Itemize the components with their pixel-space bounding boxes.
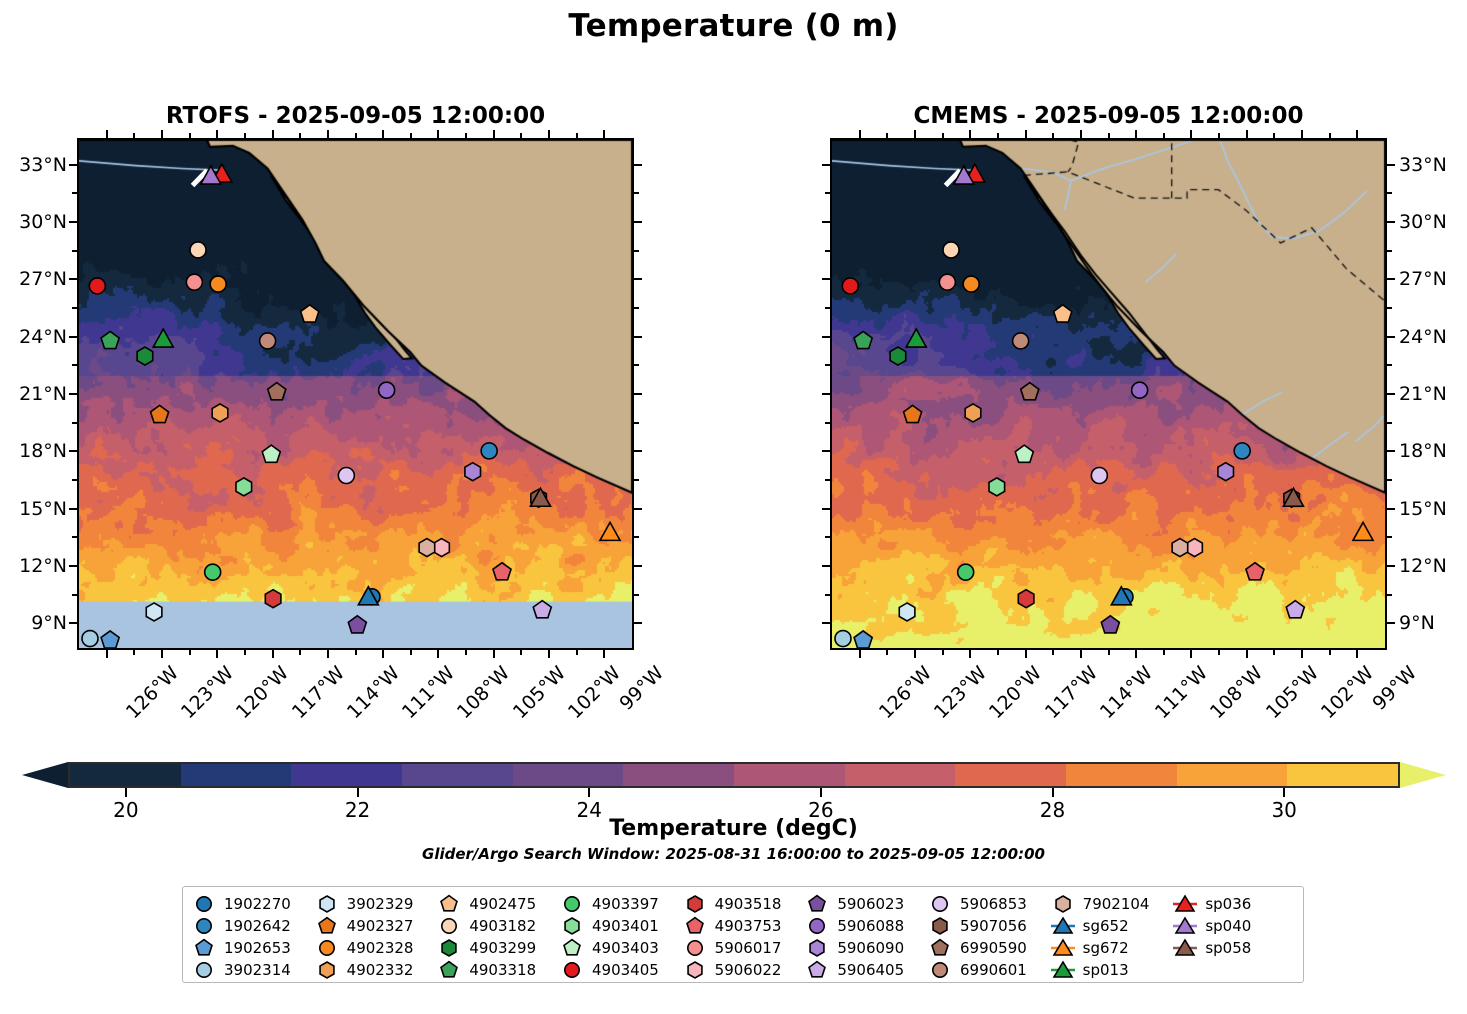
platform-marker[interactable]	[236, 478, 252, 496]
legend-marker-icon	[927, 916, 953, 935]
colorbar-tick	[1052, 788, 1054, 797]
lon-tick-minor	[1052, 133, 1054, 138]
lat-tick	[634, 336, 642, 338]
legend-item[interactable]: sg672	[1050, 937, 1173, 958]
lon-tick-label: 108°W	[1206, 662, 1267, 723]
lon-tick	[1080, 650, 1082, 658]
legend-marker-icon	[927, 894, 953, 913]
lon-tick	[1246, 130, 1248, 138]
lat-tick-minor	[72, 594, 77, 596]
legend-item[interactable]: 4902328	[314, 937, 437, 958]
lon-tick-label: 126°W	[874, 662, 935, 723]
lat-tick-minor	[825, 192, 830, 194]
lat-tick-label: 33°N	[0, 154, 67, 176]
lon-tick-minor	[299, 650, 301, 655]
lon-tick	[859, 130, 861, 138]
lon-tick-minor	[886, 133, 888, 138]
lon-tick	[1301, 130, 1303, 138]
platform-marker[interactable]	[146, 603, 162, 621]
platform-marker[interactable]	[481, 443, 497, 459]
lat-tick-label: 18°N	[1399, 440, 1467, 462]
lat-tick-minor	[1387, 364, 1392, 366]
legend-item[interactable]: 4903299	[436, 937, 559, 958]
legend-item[interactable]: sg652	[1050, 915, 1173, 936]
platform-marker[interactable]	[260, 333, 276, 349]
lat-tick	[822, 508, 830, 510]
platform-legend[interactable]: 1902270190264219026533902314390232949023…	[182, 886, 1304, 983]
panel-title-rtofs: RTOFS - 2025-09-05 12:00:00	[77, 103, 634, 129]
lon-tick-minor	[244, 133, 246, 138]
colorbar-tick	[820, 788, 822, 797]
lon-tick-minor	[1163, 133, 1165, 138]
legend-marker-icon	[1050, 894, 1076, 913]
lat-tick-label: 12°N	[1399, 555, 1467, 577]
lon-tick-minor	[1108, 133, 1110, 138]
lat-tick-minor	[634, 536, 639, 538]
platform-marker[interactable]	[493, 563, 511, 580]
lat-tick-label: 12°N	[0, 555, 67, 577]
lon-tick-minor	[355, 650, 357, 655]
legend-item[interactable]: sp036	[1172, 893, 1295, 914]
legend-item-label: sp058	[1205, 939, 1251, 957]
platform-marker[interactable]	[965, 404, 981, 422]
legend-item-label: 4902332	[347, 961, 414, 979]
lon-tick-minor	[189, 650, 191, 655]
legend-marker-icon	[1050, 938, 1076, 957]
platform-marker[interactable]	[958, 564, 974, 580]
lon-tick-minor	[1052, 650, 1054, 655]
legend-marker-icon	[191, 916, 217, 935]
figure-title: Temperature (0 m)	[0, 8, 1467, 44]
platform-marker[interactable]	[1015, 445, 1033, 462]
legend-item[interactable]: 6990590	[927, 937, 1050, 958]
colorbar-tick	[588, 788, 590, 797]
lon-tick-label: 99°W	[1369, 662, 1422, 715]
lat-tick	[1387, 565, 1395, 567]
legend-item-label: 4903518	[715, 895, 782, 913]
legend-marker-icon	[1172, 916, 1198, 935]
legend-item-label: 4903403	[592, 939, 659, 957]
platform-marker[interactable]	[1018, 590, 1034, 608]
lon-tick-minor	[410, 133, 412, 138]
legend-item[interactable]: 5906088	[804, 915, 927, 936]
lon-tick-minor	[355, 133, 357, 138]
platform-marker[interactable]	[600, 522, 620, 540]
platform-marker[interactable]	[434, 539, 450, 557]
lat-tick-minor	[634, 594, 639, 596]
platform-marker[interactable]	[212, 404, 228, 422]
legend-item[interactable]: sp013	[1050, 959, 1173, 980]
legend-marker-icon	[1050, 960, 1076, 979]
legend-marker-icon	[1172, 938, 1198, 957]
legend-item[interactable]: 1902270	[191, 893, 314, 914]
legend-item-label: sp013	[1083, 961, 1129, 979]
lat-tick	[634, 393, 642, 395]
legend-item-label: 3902314	[224, 961, 291, 979]
legend-marker-icon	[559, 916, 585, 935]
lat-tick-minor	[72, 307, 77, 309]
legend-item-label: 4903318	[469, 961, 536, 979]
lon-tick-label: 123°W	[177, 662, 238, 723]
lat-tick-minor	[1387, 536, 1392, 538]
legend-marker-icon	[436, 938, 462, 957]
lat-tick	[822, 565, 830, 567]
lon-tick-minor	[1273, 650, 1275, 655]
legend-marker-icon	[191, 894, 217, 913]
lon-tick	[1246, 650, 1248, 658]
lat-tick-minor	[1387, 422, 1392, 424]
lon-tick	[106, 130, 108, 138]
lon-tick	[161, 650, 163, 658]
platform-marker[interactable]	[854, 631, 872, 648]
legend-marker-icon	[436, 916, 462, 935]
legend-item[interactable]: 4903403	[559, 937, 682, 958]
lat-tick-label: 15°N	[0, 498, 67, 520]
legend-item[interactable]: 4903518	[682, 893, 805, 914]
legend-item[interactable]: 4902475	[436, 893, 559, 914]
legend-item-label: 4903397	[592, 895, 659, 913]
legend-marker-icon	[804, 938, 830, 957]
platform-marker[interactable]	[338, 468, 354, 484]
platform-marker[interactable]	[101, 331, 119, 348]
legend-marker-icon	[559, 938, 585, 957]
legend-item[interactable]: 4903401	[559, 915, 682, 936]
lat-tick	[634, 622, 642, 624]
legend-item[interactable]: 5906090	[804, 937, 927, 958]
legend-item[interactable]: 4902327	[314, 915, 437, 936]
platform-marker[interactable]	[137, 347, 153, 365]
lon-tick-label: 102°W	[564, 662, 625, 723]
lat-tick	[69, 450, 77, 452]
legend-item[interactable]: 4903182	[436, 915, 559, 936]
legend-item-label: sp036	[1205, 895, 1251, 913]
platform-marker[interactable]	[1021, 383, 1039, 400]
lat-tick-minor	[825, 536, 830, 538]
lat-tick-minor	[72, 536, 77, 538]
lon-tick-minor	[189, 133, 191, 138]
lon-tick-minor	[133, 133, 135, 138]
lon-tick-minor	[1218, 133, 1220, 138]
legend-marker-icon	[314, 938, 340, 957]
legend-marker-icon	[1050, 916, 1076, 935]
lon-tick	[216, 650, 218, 658]
platform-marker[interactable]	[899, 603, 915, 621]
platform-marker[interactable]	[1218, 463, 1234, 481]
legend-item-label: 5906088	[837, 917, 904, 935]
lat-tick-minor	[72, 479, 77, 481]
legend-item-label: 3902329	[347, 895, 414, 913]
platform-marker[interactable]	[101, 631, 119, 648]
lon-tick	[603, 650, 605, 658]
legend-item-label: 4903405	[592, 961, 659, 979]
lon-tick-minor	[1329, 650, 1331, 655]
legend-item[interactable]: 7902104	[1050, 893, 1173, 914]
legend-item[interactable]	[1172, 959, 1295, 980]
legend-marker-icon	[191, 960, 217, 979]
lon-tick	[603, 130, 605, 138]
lat-tick-label: 24°N	[1399, 326, 1467, 348]
platform-marker[interactable]	[1187, 539, 1203, 557]
platform-marker[interactable]	[268, 383, 286, 400]
lon-tick-minor	[886, 650, 888, 655]
lat-tick-minor	[825, 594, 830, 596]
platform-marker[interactable]	[842, 278, 858, 294]
lat-tick	[634, 450, 642, 452]
lat-tick-label: 30°N	[0, 211, 67, 233]
colorbar-max-extend	[1400, 762, 1446, 788]
map-panel-cmems[interactable]	[830, 138, 1387, 650]
lat-tick-label: 21°N	[0, 383, 67, 405]
lat-tick	[1387, 221, 1395, 223]
lon-tick	[493, 130, 495, 138]
lon-tick-minor	[520, 650, 522, 655]
platform-marker[interactable]	[1246, 563, 1264, 580]
legend-item[interactable]: sp040	[1172, 915, 1295, 936]
lat-tick-label: 9°N	[1399, 612, 1467, 634]
lon-tick-label: 105°W	[1262, 662, 1323, 723]
legend-item-label: 4903182	[469, 917, 536, 935]
legend-item[interactable]: 4902332	[314, 959, 437, 980]
legend-item-label: 5906090	[837, 939, 904, 957]
platform-marker[interactable]	[265, 590, 281, 608]
lat-tick-minor	[634, 479, 639, 481]
lat-tick-minor	[634, 422, 639, 424]
map-panel-rtofs[interactable]	[77, 138, 634, 650]
colorbar-tick	[1283, 788, 1285, 797]
lon-tick-minor	[942, 133, 944, 138]
lon-tick	[437, 130, 439, 138]
lat-tick-label: 27°N	[1399, 268, 1467, 290]
lat-tick-label: 15°N	[1399, 498, 1467, 520]
lat-tick	[822, 278, 830, 280]
legend-marker-icon	[559, 894, 585, 913]
legend-item-label: sg652	[1083, 917, 1129, 935]
lat-tick-minor	[1387, 192, 1392, 194]
platform-marker[interactable]	[210, 276, 226, 292]
lon-tick	[437, 650, 439, 658]
lon-tick	[161, 130, 163, 138]
legend-item[interactable]: 5906853	[927, 893, 1050, 914]
lat-tick-minor	[825, 364, 830, 366]
lat-tick	[822, 221, 830, 223]
platform-marker[interactable]	[1101, 616, 1119, 633]
lon-tick-label: 111°W	[1151, 662, 1212, 723]
lat-tick	[634, 508, 642, 510]
lon-tick-minor	[1273, 133, 1275, 138]
legend-marker-icon	[682, 894, 708, 913]
lat-tick-minor	[72, 250, 77, 252]
lat-tick-minor	[72, 192, 77, 194]
legend-marker-icon	[804, 916, 830, 935]
lon-tick-minor	[1108, 650, 1110, 655]
platform-marker[interactable]	[301, 305, 319, 322]
lat-tick-label: 9°N	[0, 612, 67, 634]
platform-marker[interactable]	[348, 616, 366, 633]
legend-item[interactable]: 1902653	[191, 937, 314, 958]
lat-tick	[1387, 164, 1395, 166]
lat-tick-minor	[825, 479, 830, 481]
legend-item-label: 1902270	[224, 895, 291, 913]
lon-tick	[382, 650, 384, 658]
legend-marker-icon	[682, 960, 708, 979]
lat-tick	[634, 278, 642, 280]
lon-tick	[272, 130, 274, 138]
platform-marker[interactable]	[190, 242, 206, 258]
lon-tick-label: 126°W	[121, 662, 182, 723]
legend-item[interactable]: 5906022	[682, 959, 805, 980]
lat-tick	[1387, 508, 1395, 510]
lat-tick	[822, 393, 830, 395]
lon-tick	[1356, 130, 1358, 138]
legend-item-label: 4902475	[469, 895, 536, 913]
legend-item-label: 1902642	[224, 917, 291, 935]
lat-tick-minor	[634, 250, 639, 252]
platform-markers-cmems	[832, 140, 1385, 648]
legend-marker-icon	[927, 960, 953, 979]
platform-marker[interactable]	[465, 463, 481, 481]
platform-marker[interactable]	[151, 405, 169, 422]
lat-tick-minor	[634, 364, 639, 366]
lon-tick-label: 111°W	[398, 662, 459, 723]
lon-tick	[1190, 650, 1192, 658]
lon-tick	[1190, 130, 1192, 138]
legend-item[interactable]: 4903753	[682, 915, 805, 936]
platform-marker[interactable]	[943, 242, 959, 258]
lat-tick-minor	[1387, 479, 1392, 481]
lat-tick-minor	[1387, 250, 1392, 252]
lon-tick	[914, 130, 916, 138]
legend-marker-icon	[436, 894, 462, 913]
platform-marker[interactable]	[904, 405, 922, 422]
platform-marker[interactable]	[989, 478, 1005, 496]
lat-tick-label: 33°N	[1399, 154, 1467, 176]
platform-marker[interactable]	[533, 601, 551, 618]
lon-tick	[1080, 130, 1082, 138]
lon-tick	[969, 130, 971, 138]
legend-item-label: 4903299	[469, 939, 536, 957]
platform-marker[interactable]	[82, 631, 98, 647]
legend-marker-icon	[559, 960, 585, 979]
lat-tick	[69, 565, 77, 567]
legend-marker-icon	[682, 916, 708, 935]
lon-tick-minor	[465, 650, 467, 655]
legend-item-label: 7902104	[1083, 895, 1150, 913]
platform-marker[interactable]	[854, 331, 872, 348]
platform-marker[interactable]	[890, 347, 906, 365]
platform-marker[interactable]	[262, 445, 280, 462]
platform-marker[interactable]	[835, 631, 851, 647]
platform-marker[interactable]	[1054, 305, 1072, 322]
legend-item[interactable]: 5907056	[927, 915, 1050, 936]
platform-marker[interactable]	[1286, 601, 1304, 618]
lat-tick-minor	[825, 307, 830, 309]
lon-tick-minor	[465, 133, 467, 138]
panel-title-cmems: CMEMS - 2025-09-05 12:00:00	[830, 103, 1387, 129]
lat-tick	[822, 450, 830, 452]
legend-item[interactable]: 6990601	[927, 959, 1050, 980]
lat-tick	[634, 164, 642, 166]
lon-tick	[272, 650, 274, 658]
lon-tick	[1135, 130, 1137, 138]
lon-tick-label: 120°W	[232, 662, 293, 723]
lat-tick	[69, 164, 77, 166]
lat-tick-label: 27°N	[0, 268, 67, 290]
platform-marker[interactable]	[1132, 382, 1148, 398]
legend-marker-icon	[314, 916, 340, 935]
lon-tick-minor	[576, 650, 578, 655]
colorbar-min-extend	[22, 762, 68, 788]
legend-item[interactable]: 5906023	[804, 893, 927, 914]
lon-tick-label: 105°W	[509, 662, 570, 723]
legend-item-label: 4902328	[347, 939, 414, 957]
platform-marker[interactable]	[1353, 522, 1373, 540]
lon-tick	[548, 650, 550, 658]
platform-marker[interactable]	[906, 329, 926, 347]
platform-marker[interactable]	[153, 329, 173, 347]
lat-tick	[69, 221, 77, 223]
lat-tick	[822, 164, 830, 166]
platform-marker[interactable]	[1234, 443, 1250, 459]
legend-item-label: sg672	[1083, 939, 1129, 957]
lon-tick	[1025, 650, 1027, 658]
lon-tick-label: 102°W	[1317, 662, 1378, 723]
lat-tick	[634, 221, 642, 223]
legend-item[interactable]: 3902314	[191, 959, 314, 980]
platform-marker[interactable]	[205, 564, 221, 580]
lat-tick-minor	[72, 364, 77, 366]
legend-marker-icon	[314, 894, 340, 913]
legend-item[interactable]: 4903397	[559, 893, 682, 914]
lon-tick-minor	[133, 650, 135, 655]
lon-tick-label: 117°W	[1040, 662, 1101, 723]
lat-tick-minor	[1387, 307, 1392, 309]
lon-tick-minor	[299, 133, 301, 138]
lon-tick-label: 117°W	[287, 662, 348, 723]
platform-marker[interactable]	[1172, 539, 1188, 557]
legend-marker-icon	[314, 960, 340, 979]
lon-tick	[1135, 650, 1137, 658]
legend-item[interactable]: 3902329	[314, 893, 437, 914]
legend-item[interactable]: sp058	[1172, 937, 1295, 958]
platform-marker[interactable]	[419, 539, 435, 557]
legend-item-label: 1902653	[224, 939, 291, 957]
platform-markers-rtofs	[79, 140, 632, 648]
lat-tick-label: 24°N	[0, 326, 67, 348]
search-window-label: Glider/Argo Search Window: 2025-08-31 16…	[0, 845, 1467, 863]
lon-tick-minor	[576, 133, 578, 138]
platform-marker[interactable]	[89, 278, 105, 294]
lon-tick	[914, 650, 916, 658]
legend-item-label: 5907056	[960, 917, 1027, 935]
legend-item[interactable]: 5906017	[682, 937, 805, 958]
lat-tick	[69, 393, 77, 395]
platform-marker[interactable]	[1013, 333, 1029, 349]
lon-tick-label: 114°W	[343, 662, 404, 723]
platform-marker[interactable]	[963, 276, 979, 292]
platform-marker[interactable]	[186, 274, 202, 290]
legend-item[interactable]: 4903405	[559, 959, 682, 980]
legend-item[interactable]: 4903318	[436, 959, 559, 980]
legend-item[interactable]: 1902642	[191, 915, 314, 936]
lat-tick	[822, 336, 830, 338]
platform-marker[interactable]	[379, 382, 395, 398]
legend-item[interactable]: 5906405	[804, 959, 927, 980]
lat-tick	[69, 278, 77, 280]
lon-tick-minor	[1329, 133, 1331, 138]
platform-marker[interactable]	[939, 274, 955, 290]
platform-marker[interactable]	[1091, 468, 1107, 484]
lon-tick	[1025, 130, 1027, 138]
